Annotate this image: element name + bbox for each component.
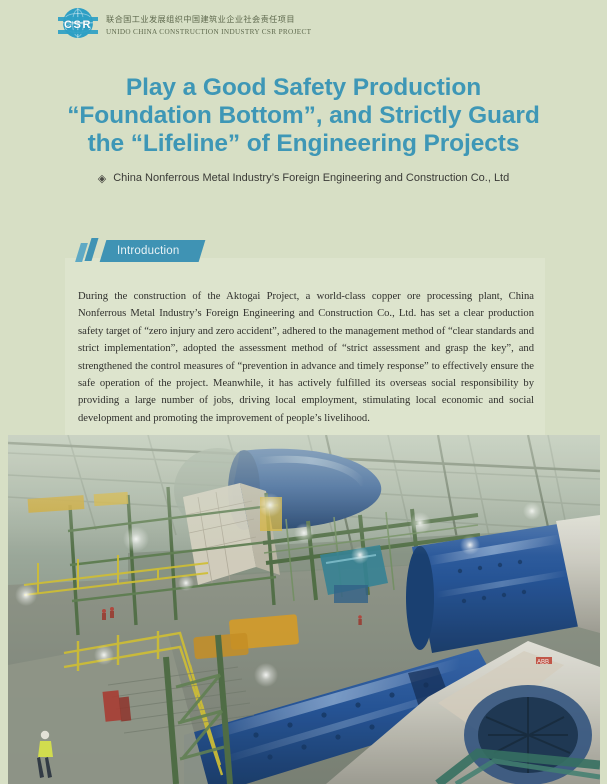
introduction-tab: Introduction <box>78 240 202 262</box>
introduction-body-text: During the construction of the Aktogai P… <box>78 288 534 427</box>
organization-name-cn: 联合国工业发展组织中国建筑业企业社会责任项目 <box>106 14 311 25</box>
plant-photograph: ABB <box>8 435 600 784</box>
byline-text: China Nonferrous Metal Industry’s Foreig… <box>113 172 509 184</box>
logo-wordmark: CSR <box>58 19 98 31</box>
globe-icon: CSR <box>58 8 98 42</box>
photo-margin-right <box>600 435 607 784</box>
introduction-tab-label: Introduction <box>117 245 180 257</box>
diamond-icon: ◈ <box>98 172 106 185</box>
photo-margin-left <box>0 435 8 784</box>
document-page: CSR 联合国工业发展组织中国建筑业企业社会责任项目 UNIDO CHINA C… <box>0 0 607 784</box>
organization-names: 联合国工业发展组织中国建筑业企业社会责任项目 UNIDO CHINA CONST… <box>106 13 311 38</box>
csr-logo-block: CSR 联合国工业发展组织中国建筑业企业社会责任项目 UNIDO CHINA C… <box>58 8 311 42</box>
organization-name-en: UNIDO CHINA CONSTRUCTION INDUSTRY CSR PR… <box>106 28 311 38</box>
photo-illustration: ABB <box>8 435 600 784</box>
article-byline: ◈China Nonferrous Metal Industry’s Forei… <box>52 172 555 185</box>
introduction-tab-label-box: Introduction <box>100 240 205 262</box>
slash-bar-icon <box>84 238 98 261</box>
page-title: Play a Good Safety Production “Foundatio… <box>52 74 555 158</box>
page-header: CSR 联合国工业发展组织中国建筑业企业社会责任项目 UNIDO CHINA C… <box>0 0 607 58</box>
